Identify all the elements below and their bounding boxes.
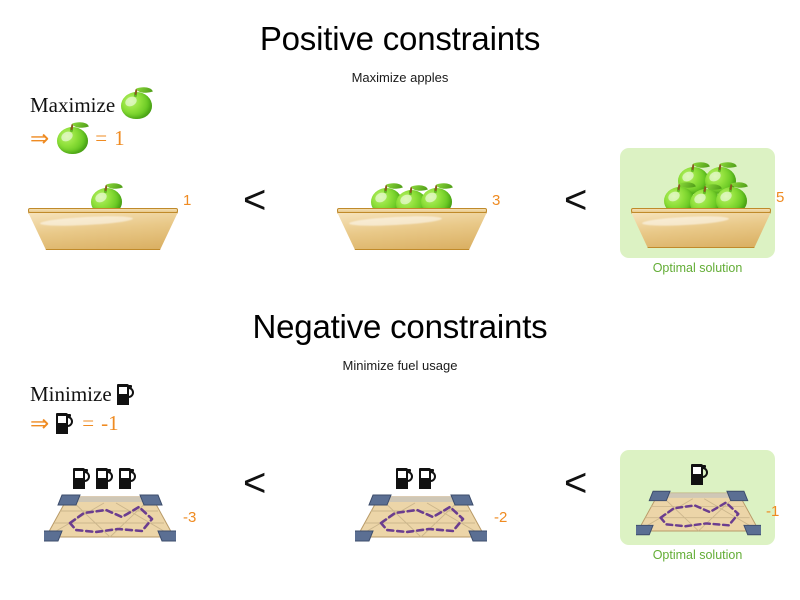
negative-legend-equals: = [82, 411, 94, 436]
positive-operator-1: < [243, 180, 266, 220]
bowl-icon [28, 208, 178, 250]
fuel-pump-icon [96, 468, 113, 489]
positive-item-1[interactable]: 1 [28, 180, 188, 260]
positive-item-2[interactable]: 3 [337, 180, 507, 260]
route-map-icon [636, 489, 761, 537]
fuel-pump-icon [691, 464, 708, 485]
negative-section-subtitle: Minimize fuel usage [0, 358, 800, 373]
negative-item-1[interactable]: -3 [44, 468, 224, 548]
route-map-icon [355, 493, 487, 543]
fuel-pump-icon [119, 468, 136, 489]
fuel-pump-icon [56, 413, 73, 434]
negative-item-2[interactable]: -2 [355, 468, 535, 548]
negative-item-1-score: -3 [183, 510, 196, 525]
fuel-pump-icon [419, 468, 436, 489]
negative-operator-2: < [564, 463, 587, 503]
negative-legend-verb: Minimize [30, 382, 112, 407]
slide-canvas: Positive constraints Maximize apples Max… [0, 0, 800, 600]
positive-legend-verb: Maximize [30, 93, 115, 118]
negative-item-2-score: -2 [494, 510, 507, 525]
bowl-icon [631, 208, 771, 248]
positive-legend-weight: 1 [114, 126, 125, 151]
negative-legend-weight-row: ⇒ = -1 [30, 411, 137, 436]
negative-operator-1: < [243, 463, 266, 503]
negative-optimal-solution-label: Optimal solution [620, 548, 775, 562]
fuel-pump-icon [73, 468, 90, 489]
fuel-pump-icon [117, 384, 134, 405]
implies-arrow-icon: ⇒ [30, 412, 49, 435]
positive-operator-2: < [564, 180, 587, 220]
negative-legend: Minimize ⇒ = -1 [30, 382, 137, 436]
positive-item-1-score: 1 [183, 193, 191, 208]
apple-icon [120, 86, 154, 120]
positive-item-2-score: 3 [492, 193, 500, 208]
implies-arrow-icon: ⇒ [30, 127, 49, 150]
negative-legend-verb-row: Minimize [30, 382, 137, 407]
bowl-icon [337, 208, 487, 250]
positive-section-title: Positive constraints [0, 20, 800, 58]
route-map-icon [44, 493, 176, 543]
positive-item-3-score: 5 [776, 190, 784, 205]
positive-legend-weight-row: ⇒ = 1 [30, 124, 154, 152]
positive-legend-equals: = [95, 126, 107, 151]
negative-section-title: Negative constraints [0, 308, 800, 346]
positive-optimal-solution-label: Optimal solution [620, 261, 775, 275]
apple-icon [56, 121, 90, 155]
positive-legend-verb-row: Maximize [30, 90, 154, 120]
negative-legend-weight: -1 [101, 411, 119, 436]
positive-legend: Maximize ⇒ = 1 [30, 90, 154, 152]
positive-item-3[interactable]: 5 [631, 162, 800, 252]
negative-item-3-score: -1 [766, 504, 779, 519]
positive-section-subtitle: Maximize apples [0, 70, 800, 85]
fuel-pump-icon [396, 468, 413, 489]
negative-item-3[interactable]: -1 [636, 464, 800, 544]
